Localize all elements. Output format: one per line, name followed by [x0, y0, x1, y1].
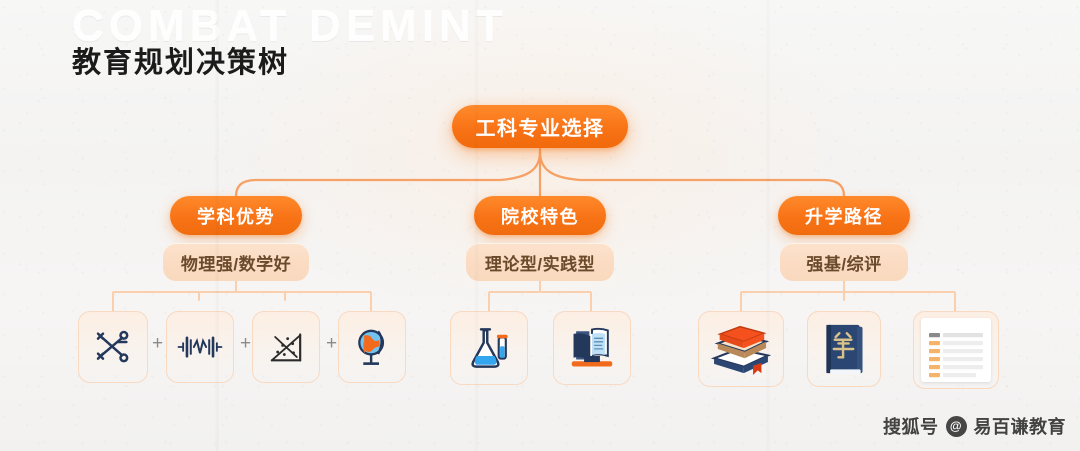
footer-watermark: 搜狐号 @ 易百谦教育 [883, 413, 1066, 439]
tree-branch-sublabel-2: 强基/综评 [780, 243, 908, 281]
decision-tree-infographic: COMBAT DEMINT 教育规划决策树 [0, 0, 1080, 451]
tree-branch-sublabel-0: 物理强/数学好 [163, 243, 309, 281]
tree-root-node[interactable]: 工科专业选择 [452, 105, 628, 148]
stacked-books-icon [710, 323, 772, 375]
leaf-card-flask[interactable] [450, 311, 528, 385]
leaf-separator-0-2: + [326, 333, 337, 355]
leaf-card-stacked-books[interactable] [698, 311, 784, 387]
tree-branch-sublabel-1: 理论型/实践型 [466, 243, 614, 281]
lab-flask-icon [466, 324, 512, 372]
footer-platform-label: 搜狐号 [883, 413, 939, 439]
leaf-card-trend-chart[interactable] [252, 311, 320, 383]
leaf-card-globe[interactable] [338, 311, 406, 383]
shuffle-arrows-icon [93, 327, 133, 367]
at-symbol-icon: @ [946, 416, 967, 437]
leaf-card-study-book[interactable] [807, 311, 881, 387]
open-book-stand-icon [568, 326, 616, 370]
study-book-icon [819, 320, 869, 378]
tree-branch-node-1[interactable]: 院校特色 [474, 196, 606, 235]
leaf-card-shuffle[interactable] [78, 311, 148, 383]
leaf-card-open-book[interactable] [553, 311, 631, 385]
footer-account-label: 易百谦教育 [974, 413, 1067, 439]
leaf-separator-0-1: + [240, 333, 251, 355]
leaf-card-circuit[interactable] [166, 311, 234, 383]
leaf-separator-0-0: + [152, 333, 163, 355]
circuit-waveform-icon [177, 331, 223, 363]
scatter-trend-chart-icon [266, 327, 306, 367]
document-list-icon [921, 318, 991, 382]
tree-branch-node-2[interactable]: 升学路径 [778, 196, 910, 235]
page-title: 教育规划决策树 [72, 39, 289, 81]
globe-icon [351, 326, 393, 368]
tree-branch-node-0[interactable]: 学科优势 [170, 196, 302, 235]
leaf-card-document-list[interactable] [913, 311, 999, 389]
